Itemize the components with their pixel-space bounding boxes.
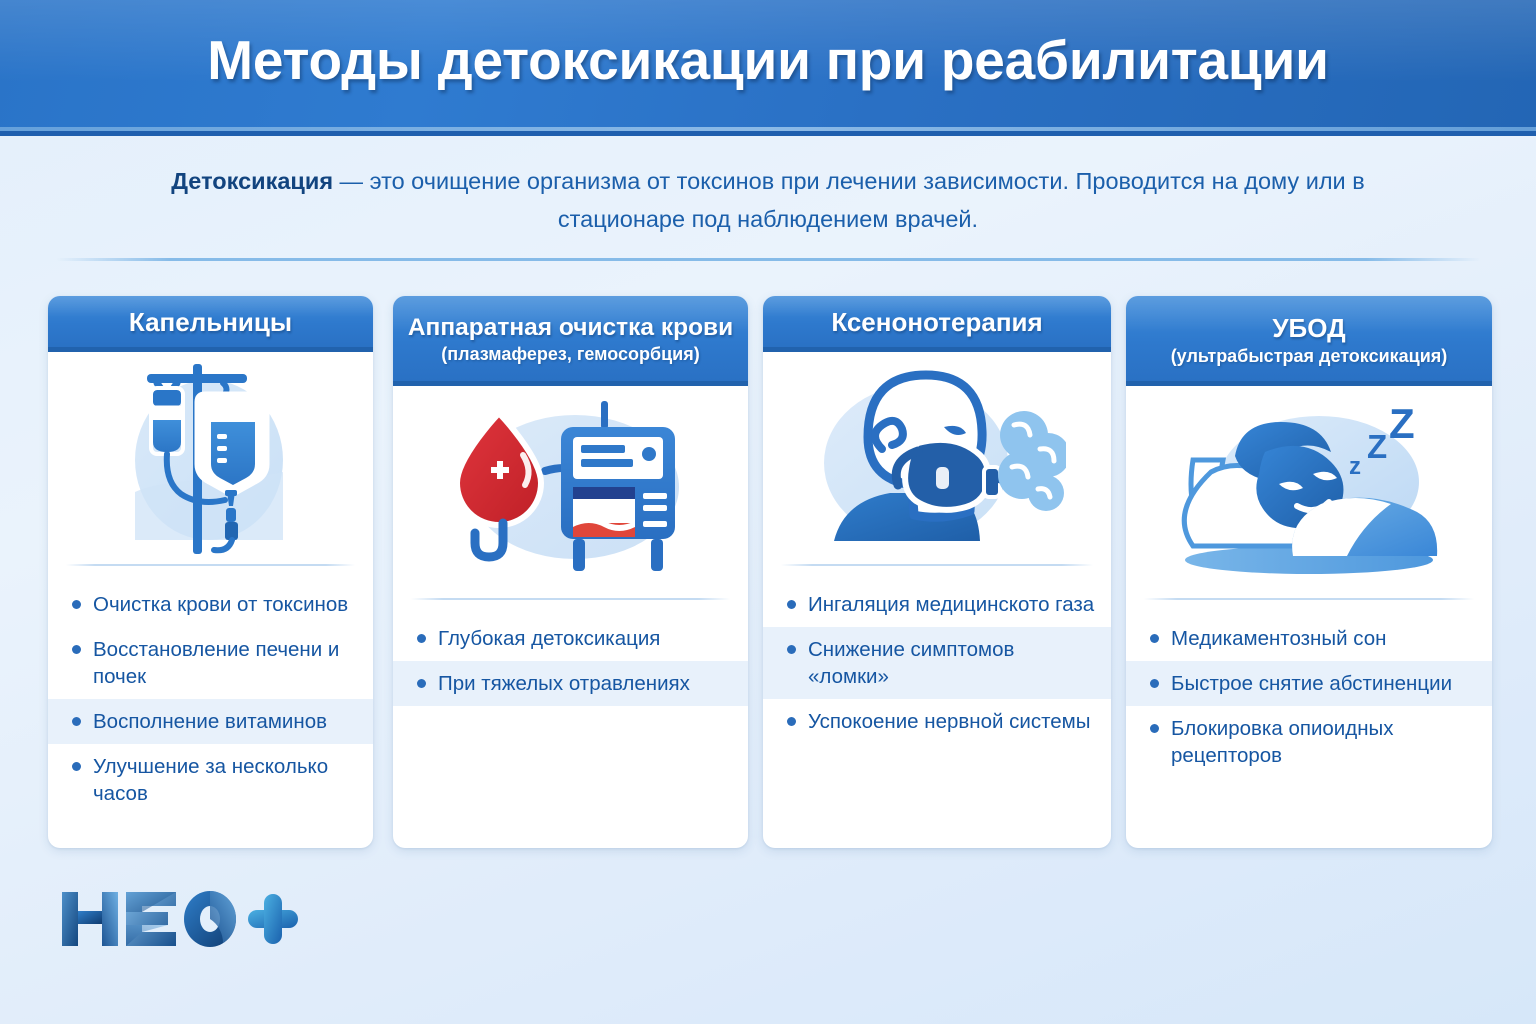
list-item-label: Очистка крови от токсинов — [93, 591, 359, 618]
list-item-label: Восполнение витаминов — [93, 708, 359, 735]
benefit-list: Медикаментозный сон Быстрое снятие абсти… — [1126, 600, 1492, 848]
card-header: Ксенонотерапия — [763, 296, 1111, 352]
list-item-label: Глубокая детоксикация — [438, 625, 734, 652]
sleeping-patient-icon: z Z Z — [1126, 386, 1492, 598]
subtitle-lead: Детоксикация — [171, 168, 333, 194]
svg-text:z: z — [1349, 453, 1361, 480]
list-item: Блокировка опиоидных рецепторов — [1126, 706, 1492, 778]
card-title: Капельницы — [129, 307, 292, 338]
svg-text:Z: Z — [1389, 400, 1415, 447]
list-item-label: Ингаляция медицинското газа — [808, 591, 1097, 618]
list-item-label: Снижение симптомов «ломки» — [808, 636, 1097, 690]
bullet-dot-icon — [787, 600, 796, 609]
benefit-list: Очистка крови от токсинов Восстановление… — [48, 566, 373, 848]
card-title: УБОД — [1272, 313, 1345, 344]
method-cards-row: Капельницы — [48, 296, 1492, 852]
card-ksenonoterapiya[interactable]: Ксенонотерапия — [763, 296, 1111, 848]
list-item: Восполнение витаминов — [48, 699, 373, 744]
infographic-page: Методы детоксикации при реабилитации Дет… — [0, 0, 1536, 1024]
bullet-dot-icon — [1150, 724, 1159, 733]
svg-text:Z: Z — [1367, 428, 1387, 465]
benefit-list: Глубокая детоксикация При тяжелых отравл… — [393, 600, 748, 848]
subtitle-paragraph: Детоксикация — это очищение организма от… — [168, 162, 1368, 238]
card-subtitle: (плазмаферез, гемосорбция) — [441, 344, 699, 365]
list-item-label: Медикаментозный сон — [1171, 625, 1478, 652]
list-item-label: Улучшение за несколько часов — [93, 753, 359, 807]
card-header: УБОД (ультрабыстрая детоксикация) — [1126, 296, 1492, 386]
list-item: Ингаляция медицинското газа — [763, 582, 1111, 627]
list-item: Снижение симптомов «ломки» — [763, 627, 1111, 699]
card-apparatnaya-ochistka-krovi[interactable]: Аппаратная очистка крови (плазмаферез, г… — [393, 296, 748, 848]
bullet-dot-icon — [787, 645, 796, 654]
card-title: Ксенонотерапия — [831, 307, 1042, 338]
blood-purification-machine-icon — [393, 386, 748, 598]
list-item-label: Восстановление печени и почек — [93, 636, 359, 690]
list-item-label: Быстрое снятие абстиненции — [1171, 670, 1478, 697]
brand-logo-neo-plus — [58, 884, 298, 954]
page-title: Методы детоксикации при реабилитации — [0, 28, 1536, 92]
bullet-dot-icon — [72, 645, 81, 654]
list-item: Успокоение нервной системы — [763, 699, 1111, 744]
list-item-label: Успокоение нервной системы — [808, 708, 1097, 735]
list-item: Очистка крови от токсинов — [48, 582, 373, 627]
list-item: Медикаментозный сон — [1126, 616, 1492, 661]
list-item: Быстрое снятие абстиненции — [1126, 661, 1492, 706]
list-item: При тяжелых отравлениях — [393, 661, 748, 706]
card-subtitle: (ультрабыстрая детоксикация) — [1171, 346, 1448, 367]
benefit-list: Ингаляция медицинското газа Снижение сим… — [763, 566, 1111, 848]
card-header: Аппаратная очистка крови (плазмаферез, г… — [393, 296, 748, 386]
bullet-dot-icon — [1150, 634, 1159, 643]
card-kapelnitsy[interactable]: Капельницы — [48, 296, 373, 848]
section-divider — [56, 258, 1480, 261]
bullet-dot-icon — [417, 634, 426, 643]
bullet-dot-icon — [72, 762, 81, 771]
iv-drip-icon — [48, 352, 373, 564]
page-header: Методы детоксикации при реабилитации — [0, 0, 1536, 136]
card-header: Капельницы — [48, 296, 373, 352]
card-ubod[interactable]: УБОД (ультрабыстрая детоксикация) — [1126, 296, 1492, 848]
subtitle-rest: — это очищение организма от токсинов при… — [333, 168, 1365, 232]
bullet-dot-icon — [1150, 679, 1159, 688]
bullet-dot-icon — [417, 679, 426, 688]
list-item: Восстановление печени и почек — [48, 627, 373, 699]
bullet-dot-icon — [787, 717, 796, 726]
header-underline — [0, 127, 1536, 131]
list-item-label: При тяжелых отравлениях — [438, 670, 734, 697]
bullet-dot-icon — [72, 717, 81, 726]
list-item-label: Блокировка опиоидных рецепторов — [1171, 715, 1478, 769]
list-item: Глубокая детоксикация — [393, 616, 748, 661]
list-item: Улучшение за несколько часов — [48, 744, 373, 816]
bullet-dot-icon — [72, 600, 81, 609]
oxygen-mask-inhalation-icon — [763, 352, 1111, 564]
card-title: Аппаратная очистка крови — [408, 314, 733, 342]
